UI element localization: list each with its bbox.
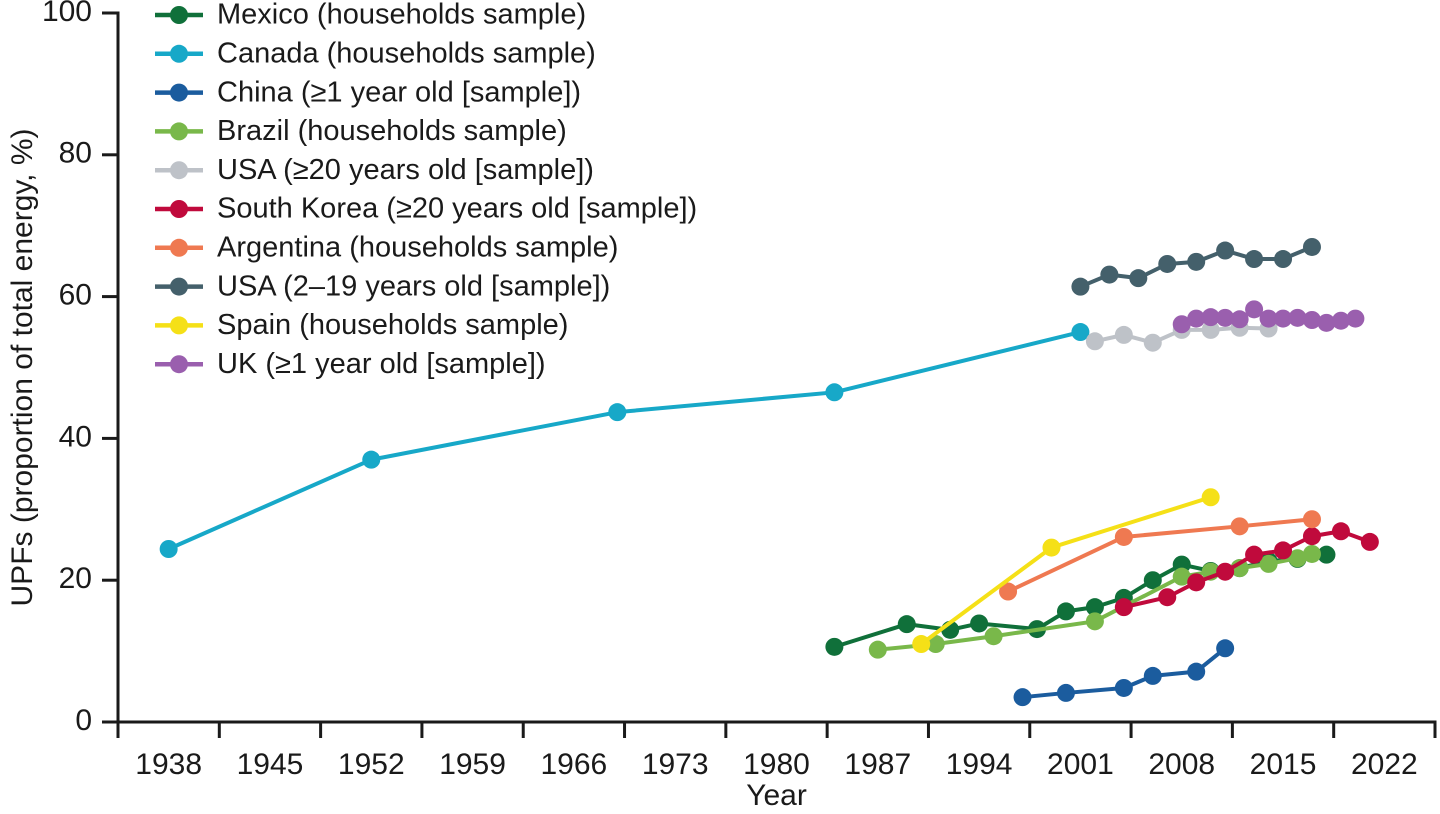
data-point[interactable] [912, 635, 930, 653]
x-tick-label: 1959 [439, 748, 506, 781]
legend-marker [170, 200, 188, 218]
data-point[interactable] [1274, 250, 1292, 268]
legend-marker [170, 122, 188, 140]
data-point[interactable] [1144, 667, 1162, 685]
legend-marker [170, 239, 188, 257]
legend-marker [170, 161, 188, 179]
x-tick-label: 1973 [642, 748, 709, 781]
x-tick-label: 1952 [338, 748, 405, 781]
y-tick-label: 100 [42, 0, 92, 28]
data-point[interactable] [825, 383, 843, 401]
x-axis-title: Year [746, 779, 807, 812]
data-point[interactable] [1086, 332, 1104, 350]
legend-label: Mexico (households sample) [217, 0, 586, 31]
data-point[interactable] [1014, 688, 1032, 706]
legend-item-uk-1-year-old-sample[interactable]: UK (≥1 year old [sample]) [155, 348, 546, 380]
data-point[interactable] [1158, 588, 1176, 606]
data-point[interactable] [1187, 663, 1205, 681]
x-tick-label: 2001 [1047, 748, 1114, 781]
series-china-1-year-old-sample [1014, 639, 1235, 706]
legend-label: UK (≥1 year old [sample]) [217, 348, 546, 380]
data-point[interactable] [362, 451, 380, 469]
series-usa-2-19-years-old-sample [1071, 238, 1321, 296]
data-point[interactable] [825, 638, 843, 656]
x-tick-label: 1938 [135, 748, 202, 781]
legend-item-mexico-households-sample[interactable]: Mexico (households sample) [155, 0, 586, 31]
x-tick-label: 1966 [541, 748, 608, 781]
legend-marker [170, 6, 188, 24]
legend-label: USA (2–19 years old [sample]) [217, 270, 610, 302]
legend-item-canada-households-sample[interactable]: Canada (households sample) [155, 37, 596, 69]
y-tick-label: 60 [59, 279, 92, 312]
data-point[interactable] [608, 403, 626, 421]
x-tick-label: 2008 [1148, 748, 1215, 781]
data-point[interactable] [1216, 639, 1234, 657]
legend-label: Canada (households sample) [217, 37, 596, 69]
x-tick-label: 2022 [1351, 748, 1418, 781]
data-point[interactable] [869, 641, 887, 659]
legend-marker [170, 84, 188, 102]
x-tick-label: 2015 [1250, 748, 1317, 781]
upf-trends-chart: 020406080100 193819451952195919661973198… [0, 0, 1440, 814]
legend-group[interactable]: Mexico (households sample)Canada (househ… [155, 0, 697, 380]
data-point[interactable] [1303, 238, 1321, 256]
legend-item-usa-2-19-years-old-sample[interactable]: USA (2–19 years old [sample]) [155, 270, 610, 302]
y-tick-label: 0 [75, 704, 92, 737]
y-axis-title: UPFs (proportion of total energy, %) [6, 129, 39, 607]
legend-item-argentina-households-sample[interactable]: Argentina (households sample) [155, 231, 618, 263]
data-point[interactable] [1144, 334, 1162, 352]
data-point[interactable] [1346, 310, 1364, 328]
x-axis-group: 1938194519521959196619731980198719942001… [118, 722, 1435, 781]
data-point[interactable] [1057, 602, 1075, 620]
legend-item-china-1-year-old-sample[interactable]: China (≥1 year old [sample]) [155, 76, 581, 108]
legend-item-usa-20-years-old-sample[interactable]: USA (≥20 years old [sample]) [155, 154, 594, 186]
x-tick-label: 1945 [237, 748, 304, 781]
data-point[interactable] [1332, 522, 1350, 540]
data-point[interactable] [1274, 541, 1292, 559]
legend-marker [170, 45, 188, 63]
x-tick-label: 1994 [946, 748, 1013, 781]
legend-item-south-korea-20-years-old-sample[interactable]: South Korea (≥20 years old [sample]) [155, 193, 697, 225]
data-point[interactable] [1231, 517, 1249, 535]
data-point[interactable] [1361, 533, 1379, 551]
data-point[interactable] [1115, 326, 1133, 344]
data-point[interactable] [1303, 545, 1321, 563]
data-point[interactable] [1115, 679, 1133, 697]
data-point[interactable] [1071, 278, 1089, 296]
legend-label: Spain (households sample) [217, 309, 568, 341]
data-point[interactable] [1303, 510, 1321, 528]
x-tick-label: 1980 [743, 748, 810, 781]
legend-label: China (≥1 year old [sample]) [217, 76, 581, 108]
data-point[interactable] [1216, 563, 1234, 581]
data-point[interactable] [1129, 269, 1147, 287]
data-point[interactable] [1245, 546, 1263, 564]
data-point[interactable] [1216, 242, 1234, 260]
legend-label: Argentina (households sample) [217, 231, 618, 263]
y-tick-label: 40 [59, 420, 92, 453]
data-point[interactable] [1187, 573, 1205, 591]
data-point[interactable] [1115, 528, 1133, 546]
legend-marker [170, 278, 188, 296]
chart-canvas: 020406080100 193819451952195919661973198… [0, 0, 1440, 814]
data-point[interactable] [1042, 539, 1060, 557]
data-point[interactable] [1202, 488, 1220, 506]
data-point[interactable] [1057, 684, 1075, 702]
x-tick-label: 1987 [844, 748, 911, 781]
legend-label: USA (≥20 years old [sample]) [217, 154, 594, 186]
data-point[interactable] [985, 627, 1003, 645]
y-tick-label: 20 [59, 562, 92, 595]
legend-item-spain-households-sample[interactable]: Spain (households sample) [155, 309, 568, 341]
data-point[interactable] [898, 615, 916, 633]
data-point[interactable] [1158, 255, 1176, 273]
data-point[interactable] [970, 614, 988, 632]
legend-item-brazil-households-sample[interactable]: Brazil (households sample) [155, 115, 567, 147]
legend-marker [170, 316, 188, 334]
data-point[interactable] [1303, 527, 1321, 545]
y-axis-group: 020406080100 [42, 0, 118, 737]
legend-marker [170, 355, 188, 373]
data-point[interactable] [1100, 266, 1118, 284]
data-point[interactable] [1086, 612, 1104, 630]
data-point[interactable] [1245, 250, 1263, 268]
legend-label: Brazil (households sample) [217, 115, 567, 147]
legend-label: South Korea (≥20 years old [sample]) [217, 193, 697, 225]
data-point[interactable] [1115, 598, 1133, 616]
data-point[interactable] [160, 540, 178, 558]
y-tick-label: 80 [59, 137, 92, 170]
data-point[interactable] [1187, 253, 1205, 271]
